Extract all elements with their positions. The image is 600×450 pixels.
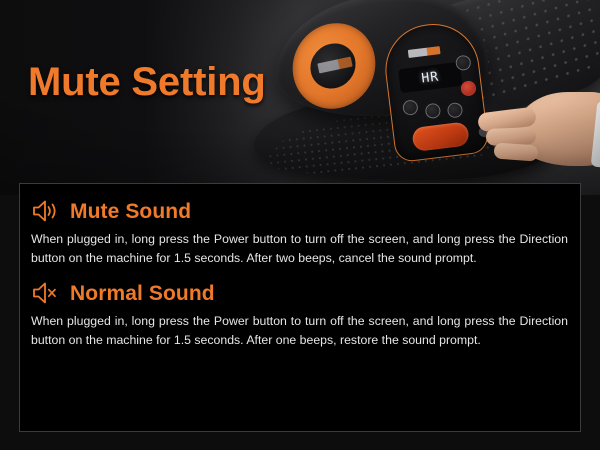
speaker-muted-icon: [31, 280, 61, 306]
section-normal-sound-title: Normal Sound: [70, 283, 215, 304]
section-normal-sound: Normal Sound When plugged in, long press…: [20, 267, 580, 349]
section-normal-sound-body: When plugged in, long press the Power bu…: [31, 312, 569, 349]
page-title: Mute Setting: [28, 62, 266, 102]
section-mute-sound-header: Mute Sound: [31, 198, 569, 224]
section-mute-sound: Mute Sound When plugged in, long press t…: [20, 184, 580, 267]
info-panel: Mute Sound When plugged in, long press t…: [19, 183, 581, 432]
speaker-waves-icon: [31, 198, 61, 224]
mute-setting-page: HR Mute Setting: [0, 0, 600, 450]
section-mute-sound-body: When plugged in, long press the Power bu…: [31, 230, 569, 267]
section-mute-sound-title: Mute Sound: [70, 201, 191, 222]
section-normal-sound-header: Normal Sound: [31, 280, 569, 306]
